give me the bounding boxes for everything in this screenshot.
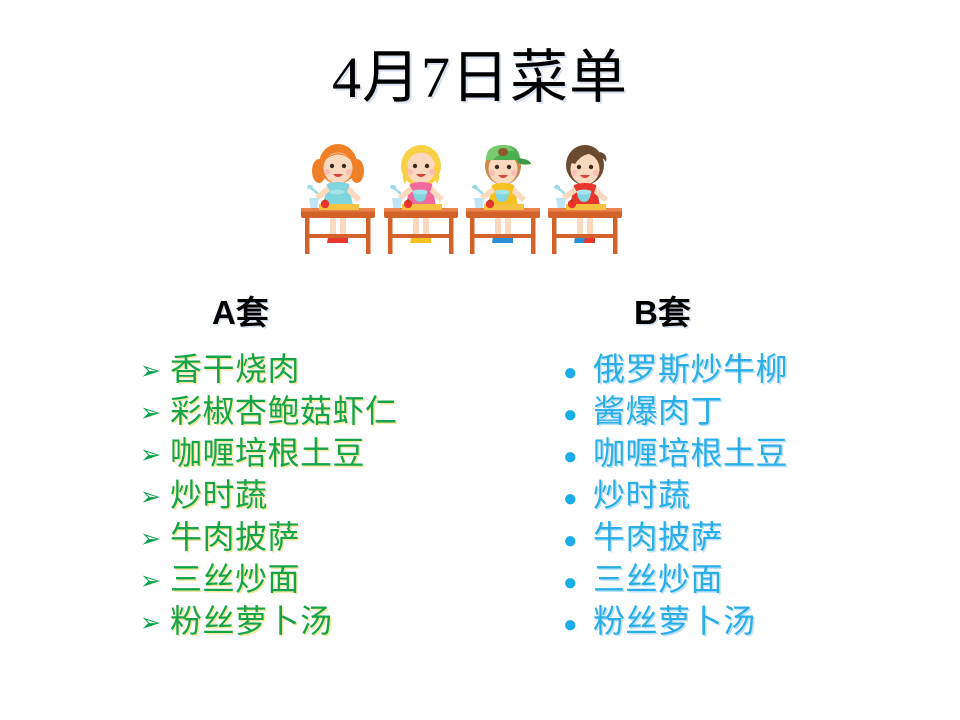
- dot-bullet-icon: ●: [563, 394, 593, 436]
- menu-item: ● 酱爆肉丁: [563, 390, 960, 432]
- dot-bullet-icon: ●: [563, 604, 593, 646]
- dish-name: 酱爆肉丁: [593, 390, 723, 432]
- menu-slide: 4月7日菜单: [0, 0, 960, 720]
- set-b-header: B套: [634, 286, 691, 334]
- arrow-bullet-icon: ➢: [140, 350, 170, 392]
- arrow-bullet-icon: ➢: [140, 392, 170, 434]
- menu-item: ➢ 粉丝萝卜汤: [140, 600, 540, 642]
- arrow-bullet-icon: ➢: [140, 518, 170, 560]
- dot-bullet-icon: ●: [563, 352, 593, 394]
- dish-name: 炒时蔬: [170, 474, 268, 516]
- set-a-menu-list: ➢ 香干烧肉 ➢ 彩椒杏鲍菇虾仁 ➢ 咖喱培根土豆 ➢ 炒时蔬 ➢ 牛肉披萨 ➢…: [140, 348, 540, 642]
- dish-name: 炒时蔬: [593, 474, 691, 516]
- dish-name: 粉丝萝卜汤: [593, 600, 756, 642]
- dish-name: 香干烧肉: [170, 348, 300, 390]
- dish-name: 牛肉披萨: [593, 516, 723, 558]
- dish-name: 牛肉披萨: [170, 516, 300, 558]
- menu-item: ● 牛肉披萨: [563, 516, 960, 558]
- dish-name: 三丝炒面: [170, 558, 300, 600]
- dot-bullet-icon: ●: [563, 478, 593, 520]
- menu-item: ➢ 咖喱培根土豆: [140, 432, 540, 474]
- menu-item: ➢ 三丝炒面: [140, 558, 540, 600]
- menu-item: ● 炒时蔬: [563, 474, 960, 516]
- menu-item: ● 三丝炒面: [563, 558, 960, 600]
- dot-bullet-icon: ●: [563, 520, 593, 562]
- arrow-bullet-icon: ➢: [140, 560, 170, 602]
- set-b-menu-list: ● 俄罗斯炒牛柳 ● 酱爆肉丁 ● 咖喱培根土豆 ● 炒时蔬 ● 牛肉披萨 ● …: [563, 348, 960, 642]
- menu-item: ● 咖喱培根土豆: [563, 432, 960, 474]
- set-a-header: A套: [212, 286, 269, 334]
- menu-item: ● 俄罗斯炒牛柳: [563, 348, 960, 390]
- arrow-bullet-icon: ➢: [140, 602, 170, 644]
- menu-item: ➢ 炒时蔬: [140, 474, 540, 516]
- dish-name: 粉丝萝卜汤: [170, 600, 333, 642]
- arrow-bullet-icon: ➢: [140, 434, 170, 476]
- child-illustration-3: [462, 138, 544, 260]
- arrow-bullet-icon: ➢: [140, 476, 170, 518]
- page-title: 4月7日菜单: [0, 48, 960, 109]
- menu-item: ● 粉丝萝卜汤: [563, 600, 960, 642]
- child-illustration-1: [297, 138, 379, 260]
- child-illustration-2: [380, 138, 462, 260]
- menu-item: ➢ 彩椒杏鲍菇虾仁: [140, 390, 540, 432]
- dish-name: 俄罗斯炒牛柳: [593, 348, 788, 390]
- menu-item: ➢ 牛肉披萨: [140, 516, 540, 558]
- dish-name: 咖喱培根土豆: [593, 432, 788, 474]
- child-illustration-4: [544, 138, 626, 260]
- dot-bullet-icon: ●: [563, 436, 593, 478]
- children-eating-illustration: [297, 138, 627, 260]
- menu-item: ➢ 香干烧肉: [140, 348, 540, 390]
- dot-bullet-icon: ●: [563, 562, 593, 604]
- dish-name: 三丝炒面: [593, 558, 723, 600]
- dish-name: 咖喱培根土豆: [170, 432, 365, 474]
- dish-name: 彩椒杏鲍菇虾仁: [170, 390, 398, 432]
